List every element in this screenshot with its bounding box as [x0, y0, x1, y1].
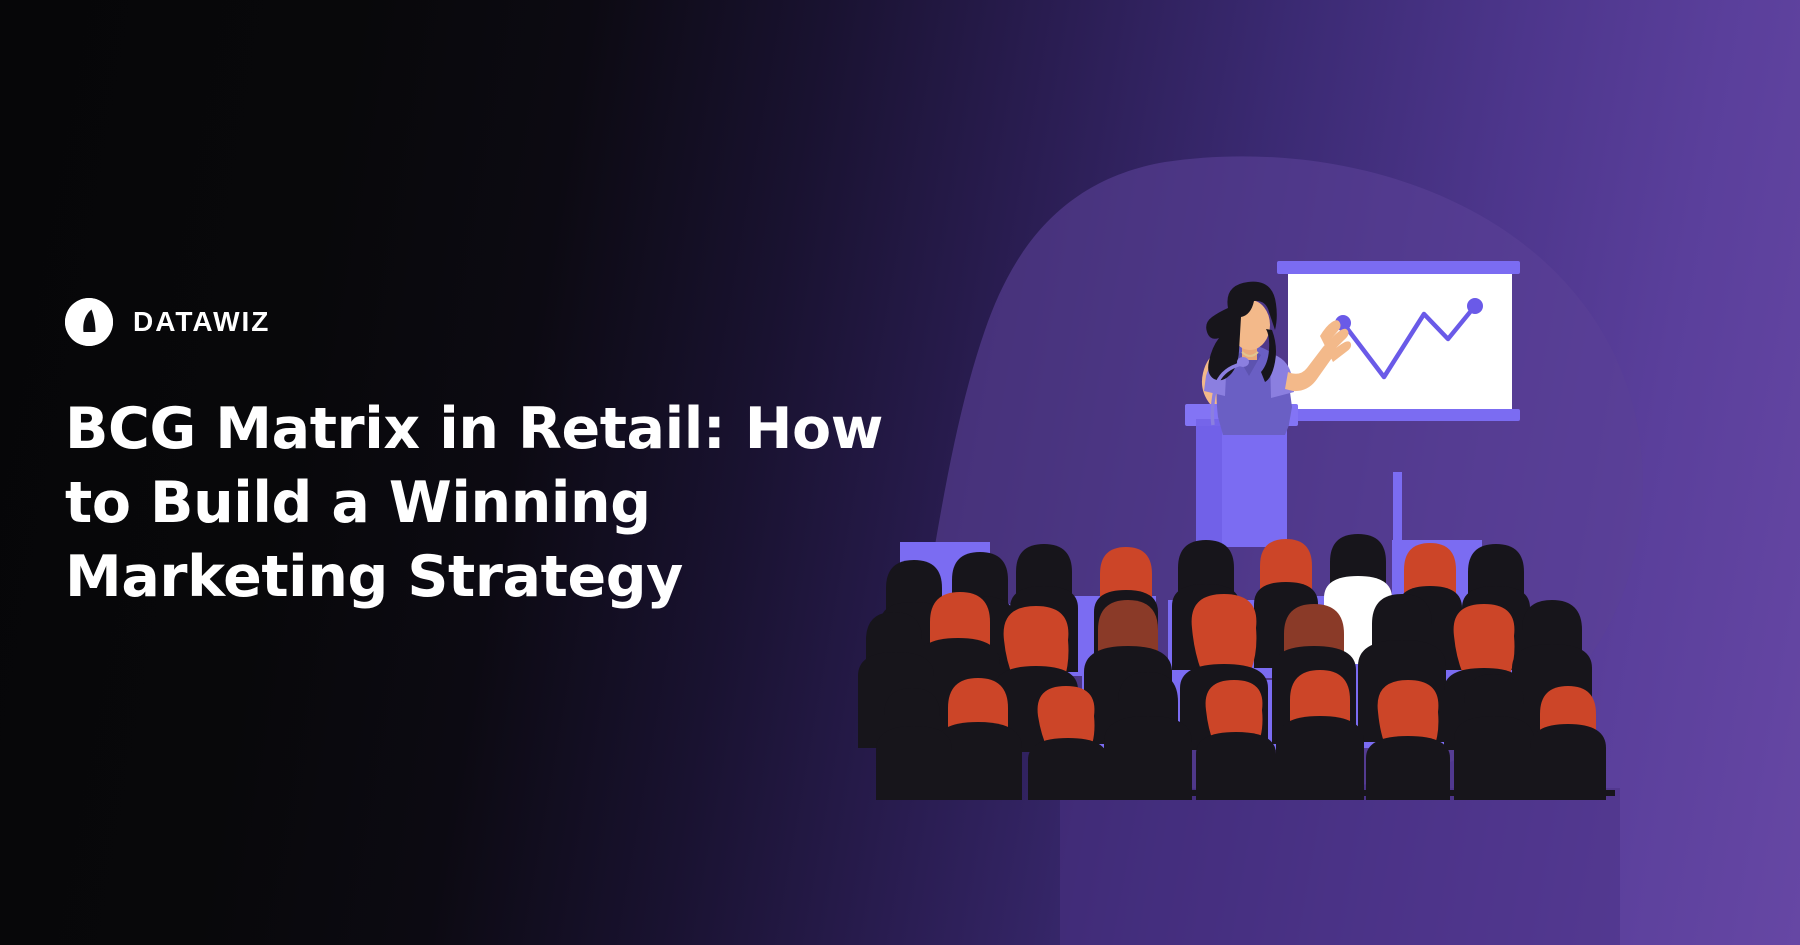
page-title-line-2: to Build a Winning: [65, 466, 885, 540]
datawiz-droplet-icon: [65, 298, 113, 346]
brand-name: DATAWIZ: [133, 308, 270, 336]
brand-logo[interactable]: DATAWIZ: [65, 298, 270, 346]
microphone-head: [1237, 357, 1249, 367]
page-title-line-3: Marketing Strategy: [65, 540, 885, 614]
chart-point-end: [1467, 298, 1483, 314]
crowd-baseline: [1055, 790, 1615, 796]
hero-banner: DATAWIZ BCG Matrix in Retail: How to Bui…: [0, 0, 1800, 945]
screen-bottom-rail: [1277, 409, 1520, 421]
screen-top-rail: [1277, 261, 1520, 274]
podium-shadow: [1196, 419, 1222, 547]
page-title-line-1: BCG Matrix in Retail: How: [65, 392, 885, 466]
screen-board: [1288, 274, 1512, 409]
page-title: BCG Matrix in Retail: How to Build a Win…: [65, 392, 885, 614]
audience-row-front: [876, 670, 1606, 800]
audience-person: [1530, 686, 1606, 800]
audience-person: [1454, 674, 1534, 800]
stage-floor: [1060, 788, 1620, 945]
